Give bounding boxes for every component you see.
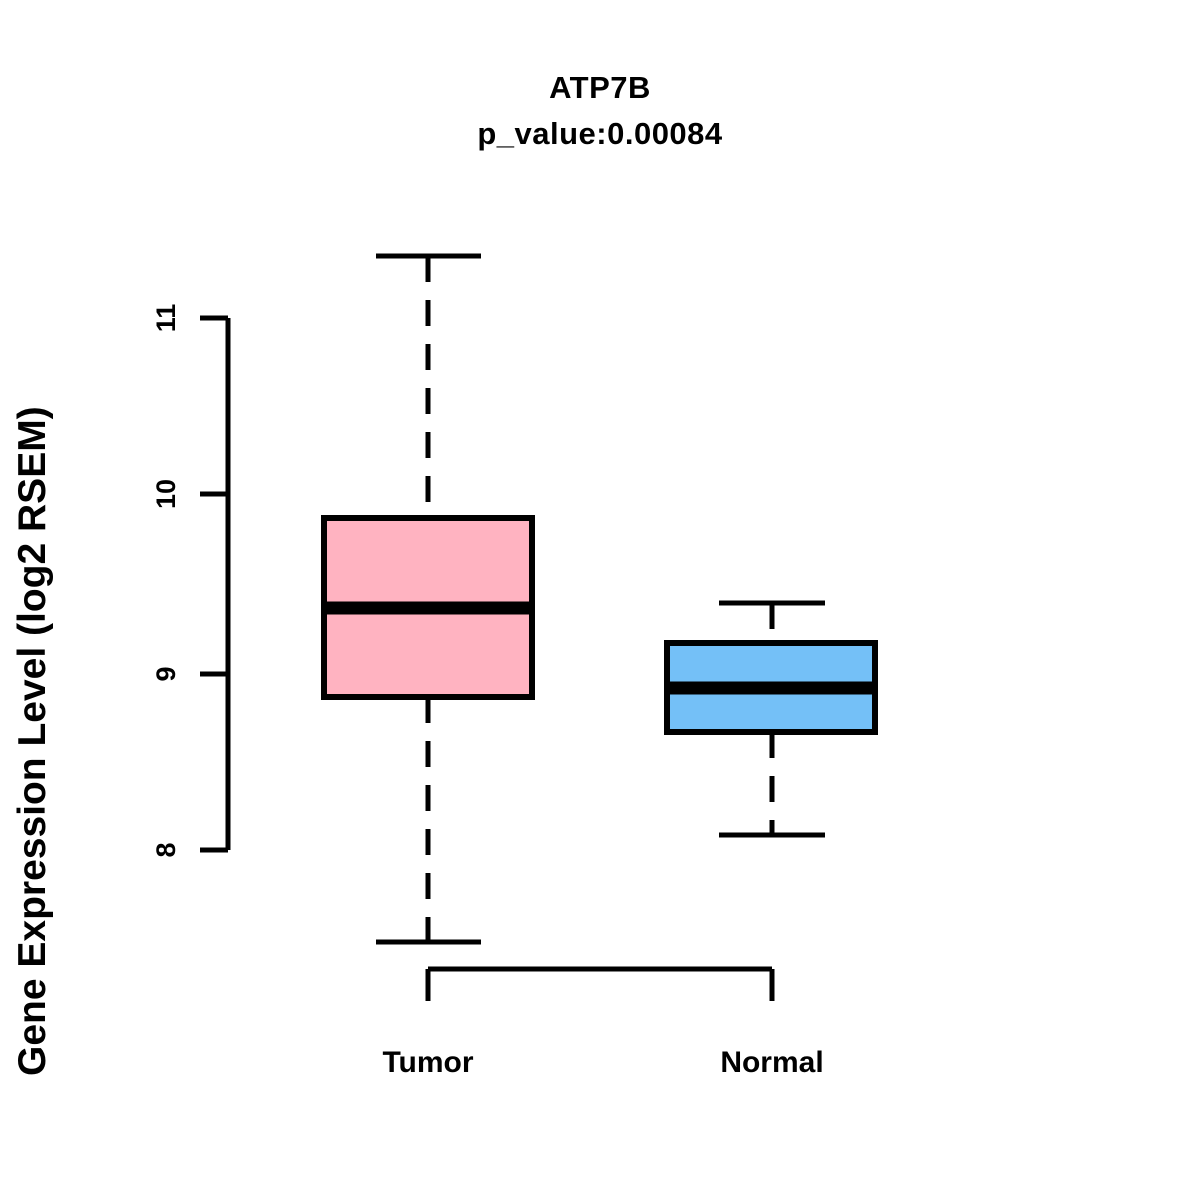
x-label-normal: Normal — [720, 1046, 823, 1079]
x-axis-bracket — [428, 969, 772, 1001]
x-label-tumor: Tumor — [382, 1046, 473, 1079]
plot-area: 11 10 9 8 — [0, 0, 1200, 1200]
box-group-tumor[interactable] — [324, 256, 532, 942]
y-tick-label-9: 9 — [151, 666, 181, 681]
box-group-normal[interactable] — [667, 603, 875, 835]
y-tick-label-11: 11 — [151, 304, 181, 333]
y-tick-label-10: 10 — [151, 479, 181, 509]
boxplot-figure: ATP7B p_value:0.00084 Gene Expression Le… — [0, 0, 1200, 1200]
y-tick-label-8: 8 — [151, 842, 181, 857]
